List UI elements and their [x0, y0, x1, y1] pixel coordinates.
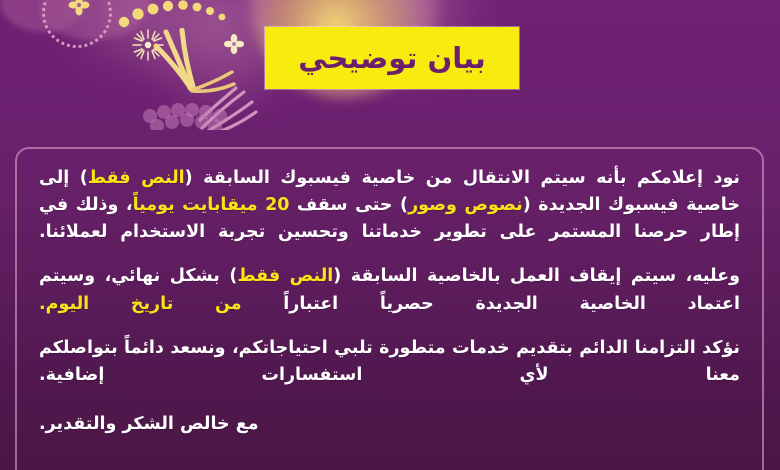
scalloped-fan-icon — [142, 72, 262, 130]
announcement-poster: بيان توضيحي نود إعلامكم بأنه سيتم الانتق… — [0, 0, 780, 470]
title-banner: بيان توضيحي — [265, 27, 519, 89]
ribbon-streaks-icon — [152, 28, 242, 100]
dotted-circle-icon — [42, 0, 112, 48]
paragraph-1-highlight-text-only: النص فقط — [88, 168, 185, 188]
starburst-icon — [131, 28, 165, 62]
announcement-card: نود إعلامكم بأنه سيتم الانتقال من خاصية … — [15, 147, 764, 470]
paragraph-1: نود إعلامكم بأنه سيتم الانتقال من خاصية … — [39, 165, 740, 246]
closing-line: مع خالص الشكر والتقدير. — [39, 411, 740, 438]
paragraph-2-highlight-effective-date: من تاريخ اليوم. — [39, 294, 242, 314]
paragraph-2: وعليه، سيتم إيقاف العمل بالخاصية السابقة… — [39, 263, 740, 317]
paragraph-1-segment-3: ) حتى سقف — [289, 195, 408, 215]
ribbon-streaks-icon — [196, 78, 276, 130]
dotted-arc-icon — [118, 0, 248, 38]
decorative-soft-glow — [60, 0, 210, 82]
paragraph-1-segment-1: نود إعلامكم بأنه سيتم الانتقال من خاصية … — [185, 168, 740, 188]
paragraph-3: نؤكد التزامنا الدائم بتقديم خدمات متطورة… — [39, 335, 740, 389]
paragraph-1-highlight-text-and-images: نصوص وصور — [408, 195, 523, 215]
paragraph-2-segment-1: وعليه، سيتم إيقاف العمل بالخاصية السابقة… — [333, 266, 740, 286]
decorative-blob-shape — [0, 0, 90, 32]
flower-icon — [68, 0, 90, 16]
paragraph-1-highlight-daily-cap: 20 ميقابايت يومياً — [133, 195, 290, 215]
decorative-blob-shape — [40, 0, 150, 40]
paragraph-2-highlight-text-only: النص فقط — [237, 266, 333, 286]
poster-title: بيان توضيحي — [298, 44, 486, 73]
flower-icon — [223, 33, 245, 55]
